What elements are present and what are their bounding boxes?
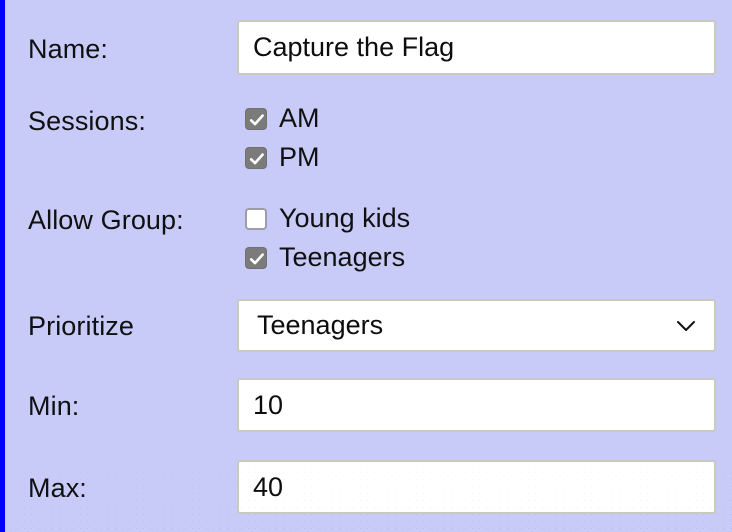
checkbox-pm[interactable]: PM [245, 144, 320, 171]
checkbox-unchecked-icon[interactable] [245, 208, 267, 230]
checkbox-young-kids[interactable]: Young kids [245, 205, 410, 232]
checkbox-checked-icon[interactable] [245, 108, 267, 130]
checkbox-label-teenagers: Teenagers [279, 244, 405, 271]
prioritize-label: Prioritize [28, 313, 134, 340]
sessions-label: Sessions: [28, 108, 146, 135]
max-input[interactable]: 40 [237, 460, 716, 514]
chevron-down-icon[interactable] [676, 319, 696, 333]
prioritize-select[interactable]: Teenagers [237, 299, 716, 352]
prioritize-selected-value: Teenagers [257, 310, 383, 341]
max-label: Max: [28, 475, 87, 502]
checkbox-checked-icon[interactable] [245, 147, 267, 169]
checkbox-label-pm: PM [279, 144, 320, 171]
name-label: Name: [28, 36, 108, 63]
name-input[interactable]: Capture the Flag [237, 20, 716, 75]
activity-settings-panel: Name: Capture the Flag Sessions: AM PM A… [0, 0, 732, 532]
allow-group-label: Allow Group: [28, 207, 184, 234]
checkbox-teenagers[interactable]: Teenagers [245, 244, 405, 271]
checkbox-label-young-kids: Young kids [279, 205, 410, 232]
checkbox-checked-icon[interactable] [245, 247, 267, 269]
min-label: Min: [28, 393, 79, 420]
left-accent-bar [0, 0, 5, 532]
min-input[interactable]: 10 [237, 378, 716, 432]
checkbox-am[interactable]: AM [245, 105, 320, 132]
checkbox-label-am: AM [279, 105, 320, 132]
